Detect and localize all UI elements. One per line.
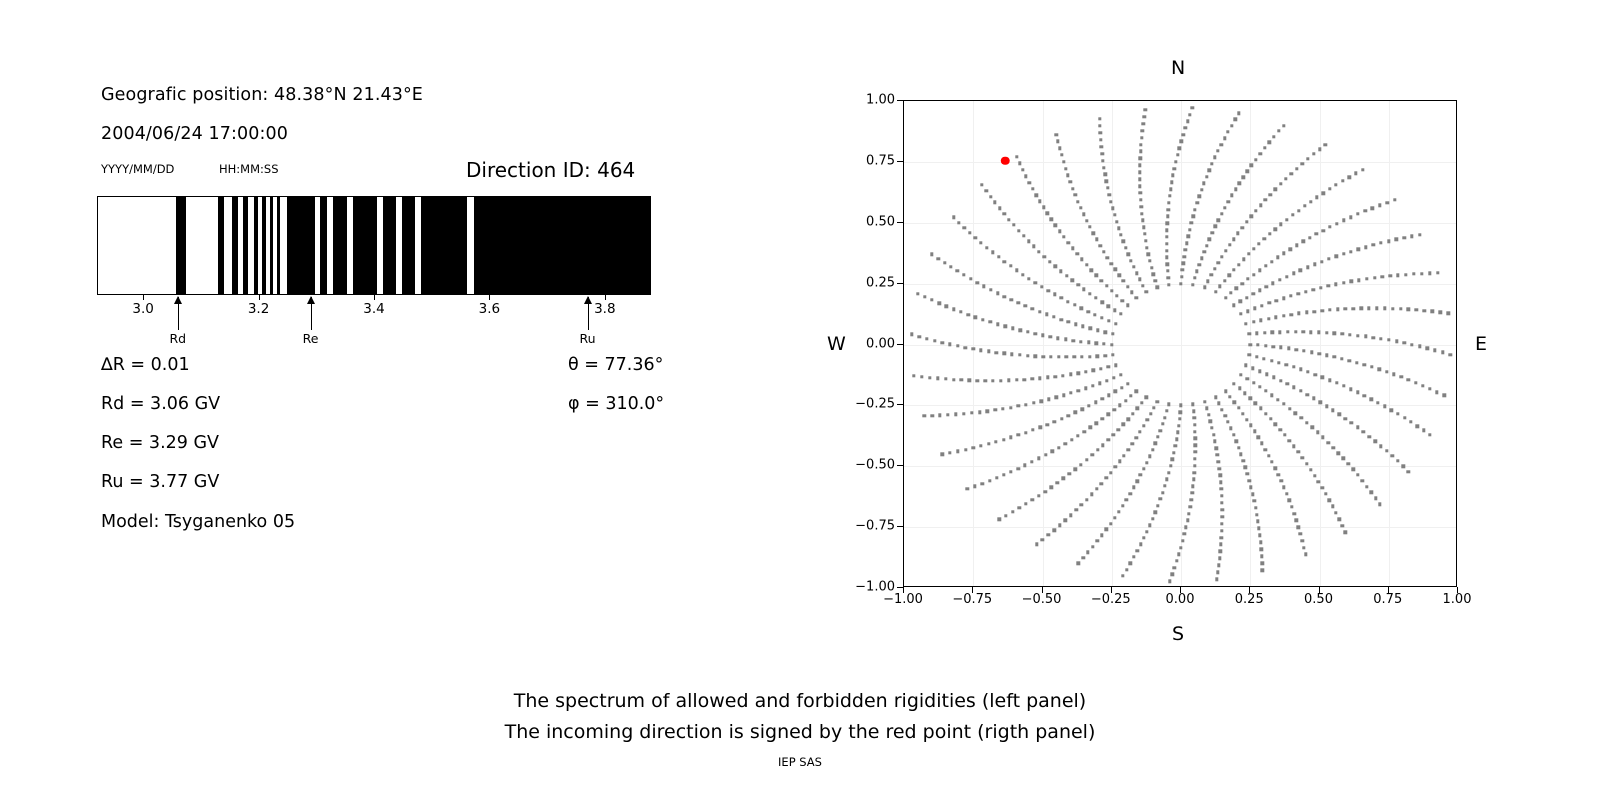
direction-point — [1106, 438, 1109, 441]
direction-point — [1126, 304, 1129, 307]
direction-point — [1059, 318, 1062, 321]
direction-point — [974, 236, 977, 239]
direction-point — [1028, 181, 1031, 184]
direction-point — [1218, 557, 1221, 560]
direction-point — [1233, 118, 1236, 121]
direction-point — [1422, 429, 1425, 432]
direction-point — [1428, 271, 1431, 274]
direction-point — [1294, 411, 1297, 414]
direction-point — [1264, 389, 1267, 392]
direction-point — [1009, 436, 1012, 439]
direction-point — [1092, 232, 1095, 235]
model-label: Model: Tsyganenko 05 — [101, 512, 295, 532]
direction-point — [1387, 338, 1390, 341]
direction-point — [1042, 206, 1045, 209]
direction-point — [1241, 226, 1244, 229]
direction-point — [1289, 294, 1292, 297]
direction-point — [1333, 355, 1336, 358]
direction-point — [1179, 546, 1182, 549]
direction-point — [1385, 370, 1388, 373]
direction-point — [933, 339, 936, 342]
direction-point — [1105, 284, 1108, 287]
forbidden-band — [353, 197, 377, 294]
direction-point — [1085, 458, 1088, 461]
direction-point — [1183, 255, 1186, 258]
direction-point — [1220, 501, 1223, 504]
direction-point — [1138, 157, 1141, 160]
direction-point — [1193, 457, 1196, 460]
direction-point — [1191, 403, 1194, 406]
direction-point — [1183, 532, 1186, 535]
direction-point — [986, 409, 989, 412]
direction-point — [1278, 330, 1281, 333]
direction-point — [1285, 275, 1288, 278]
direction-point — [1026, 354, 1029, 357]
direction-point — [918, 335, 921, 338]
direction-point — [1258, 369, 1261, 372]
direction-point — [1229, 291, 1232, 294]
direction-point — [1257, 527, 1260, 530]
direction-point — [1223, 414, 1226, 417]
direction-point — [1229, 427, 1232, 430]
direction-point — [1301, 456, 1304, 459]
direction-point — [1348, 359, 1351, 362]
spectrum-tick — [374, 295, 375, 300]
direction-point — [1333, 332, 1336, 335]
direction-point — [1344, 417, 1347, 420]
direction-point — [1348, 333, 1351, 336]
direction-point — [1306, 370, 1309, 373]
direction-point — [1056, 481, 1059, 484]
direction-point — [1415, 308, 1418, 311]
plot-xtick-label: 0.00 — [1166, 592, 1195, 607]
direction-point — [1114, 268, 1117, 271]
direction-point — [1010, 298, 1013, 301]
direction-point — [1364, 245, 1367, 248]
direction-point — [1264, 344, 1267, 347]
direction-point — [1260, 548, 1263, 551]
direction-point — [1236, 232, 1239, 235]
forbidden-band — [474, 197, 651, 294]
direction-point — [1113, 516, 1116, 519]
direction-point — [1066, 174, 1069, 177]
direction-point — [1271, 282, 1274, 285]
direction-point — [1216, 149, 1219, 152]
direction-point — [1012, 223, 1015, 226]
direction-point — [1385, 449, 1388, 452]
direction-point — [1334, 283, 1337, 286]
direction-point — [1112, 376, 1115, 379]
direction-point — [1054, 265, 1057, 268]
direction-point — [1060, 417, 1063, 420]
direction-point — [1267, 317, 1270, 320]
direction-point — [1214, 225, 1217, 228]
direction-point — [1167, 276, 1170, 279]
direction-point — [1251, 366, 1254, 369]
direction-point — [1217, 564, 1220, 567]
direction-point — [1388, 274, 1391, 277]
direction-point — [948, 451, 951, 454]
direction-point — [1053, 420, 1056, 423]
direction-point — [1128, 492, 1131, 495]
direction-point — [1138, 164, 1141, 167]
direction-point — [1426, 347, 1429, 350]
direction-point — [1126, 382, 1129, 385]
direction-point — [1140, 401, 1143, 404]
direction-point — [1383, 307, 1386, 310]
direction-point — [1192, 478, 1195, 481]
direction-point — [1407, 378, 1410, 381]
direction-point — [1027, 277, 1030, 280]
direction-point — [1431, 310, 1434, 313]
direction-point — [1118, 274, 1121, 277]
direction-point — [1449, 353, 1452, 356]
direction-point — [1038, 310, 1041, 313]
direction-point — [1274, 227, 1277, 230]
direction-point — [994, 440, 997, 443]
direction-point — [973, 485, 976, 488]
direction-point — [1264, 448, 1267, 451]
direction-point — [1167, 208, 1170, 211]
direction-point — [1401, 465, 1404, 468]
direction-point — [1250, 164, 1253, 167]
direction-point — [989, 320, 992, 323]
direction-point — [1296, 450, 1299, 453]
direction-point — [1100, 482, 1103, 485]
direction-point — [1043, 255, 1046, 258]
direction-point — [1024, 304, 1027, 307]
direction-point — [1379, 444, 1382, 447]
direction-point — [1094, 296, 1097, 299]
direction-point — [1024, 175, 1027, 178]
direction-point — [1242, 258, 1245, 261]
direction-point — [1035, 543, 1038, 546]
direction-point — [1191, 106, 1194, 109]
plot-ytick — [897, 465, 903, 466]
direction-point — [1302, 546, 1305, 549]
direction-point — [1252, 292, 1255, 295]
direction-point — [1191, 283, 1194, 286]
direction-point — [1102, 250, 1105, 253]
direction-point — [1285, 363, 1288, 366]
direction-point — [922, 414, 925, 417]
direction-point — [1087, 404, 1090, 407]
direction-point — [1292, 512, 1295, 515]
plot-xtick-label: −0.50 — [1022, 592, 1062, 607]
direction-point — [946, 413, 949, 416]
direction-point — [1058, 524, 1061, 527]
direction-point — [1176, 431, 1179, 434]
direction-point — [1327, 441, 1330, 444]
plot-xtick-label: −0.25 — [1091, 592, 1131, 607]
direction-point — [1034, 193, 1037, 196]
direction-point — [1356, 426, 1359, 429]
direction-point — [1299, 532, 1302, 535]
direction-point — [1335, 381, 1338, 384]
direction-point — [1304, 290, 1307, 293]
direction-point — [1292, 386, 1295, 389]
plot-xtick-label: 0.75 — [1373, 592, 1402, 607]
direction-point — [972, 446, 975, 449]
direction-point — [1141, 219, 1144, 222]
direction-point — [1072, 355, 1075, 358]
direction-point — [979, 241, 982, 244]
direction-point — [930, 252, 933, 255]
direction-point — [1245, 418, 1248, 421]
plot-ytick — [897, 100, 903, 101]
direction-point — [1359, 307, 1362, 310]
direction-point — [1271, 331, 1274, 334]
direction-point — [1396, 459, 1399, 462]
direction-point — [1203, 286, 1206, 289]
direction-point — [959, 310, 962, 313]
marker-label-re: Re — [303, 331, 319, 346]
plot-ytick-label: 0.75 — [866, 153, 895, 168]
direction-point — [1121, 299, 1124, 302]
direction-point — [1226, 420, 1229, 423]
direction-point — [1247, 252, 1250, 255]
direction-point — [1002, 438, 1005, 441]
direction-point — [1215, 447, 1218, 450]
plot-ytick — [897, 222, 903, 223]
direction-point — [978, 410, 981, 413]
direction-point — [1342, 281, 1345, 284]
direction-point — [1206, 279, 1209, 282]
direction-point — [1374, 497, 1377, 500]
direction-point — [1187, 512, 1190, 515]
direction-point — [1391, 307, 1394, 310]
direction-point — [1080, 503, 1083, 506]
direction-point — [1220, 515, 1223, 518]
direction-point — [1102, 342, 1105, 345]
direction-point — [1260, 304, 1263, 307]
direction-point — [1319, 401, 1322, 404]
direction-point — [1118, 404, 1121, 407]
direction-point — [1154, 279, 1157, 282]
direction-point — [1228, 395, 1231, 398]
direction-point — [1435, 390, 1438, 393]
direction-point — [1282, 297, 1285, 300]
direction-point — [1110, 289, 1113, 292]
direction-point — [1083, 430, 1086, 433]
direction-point — [1202, 250, 1205, 253]
direction-point — [1258, 534, 1261, 537]
direction-point — [1071, 187, 1074, 190]
direction-point — [1080, 407, 1083, 410]
direction-point — [1308, 236, 1311, 239]
direction-point — [1105, 379, 1108, 382]
compass-west-label: W — [827, 333, 846, 355]
direction-point — [1113, 213, 1116, 216]
direction-point — [1249, 424, 1252, 427]
direction-point — [1312, 397, 1315, 400]
param-re: Re = 3.29 GV — [101, 433, 219, 453]
direction-point — [1181, 539, 1184, 542]
direction-point — [1277, 361, 1280, 364]
direction-point — [1159, 429, 1162, 432]
direction-point — [1138, 171, 1141, 174]
direction-point — [1269, 417, 1272, 420]
direction-point — [1195, 270, 1198, 273]
direction-point — [1152, 406, 1155, 409]
direction-point — [1342, 457, 1345, 460]
direction-point — [1258, 152, 1261, 155]
direction-point — [1049, 355, 1052, 358]
direction-point — [1200, 188, 1203, 191]
direction-point — [1091, 545, 1094, 548]
direction-point — [983, 379, 986, 382]
direction-point — [1121, 504, 1124, 507]
direction-point — [1282, 252, 1285, 255]
direction-point — [1277, 473, 1280, 476]
direction-point — [1176, 153, 1179, 156]
direction-point — [1259, 541, 1262, 544]
direction-point — [1232, 304, 1235, 307]
direction-point — [1096, 329, 1099, 332]
direction-point — [1237, 406, 1240, 409]
direction-point — [1337, 451, 1340, 454]
direction-point — [1067, 320, 1070, 323]
direction-point — [1418, 233, 1421, 236]
direction-point — [1011, 510, 1014, 513]
direction-point — [1188, 113, 1191, 116]
direction-point — [1286, 330, 1289, 333]
param-delta-r: ∆R = 0.01 — [101, 355, 190, 375]
direction-point — [1292, 365, 1295, 368]
direction-point — [1361, 168, 1364, 171]
direction-point — [1365, 277, 1368, 280]
direction-point — [1154, 442, 1157, 445]
direction-point — [1252, 381, 1255, 384]
direction-point — [1136, 407, 1139, 410]
rigidity-spectrum-chart — [97, 196, 651, 295]
direction-point — [1169, 464, 1172, 467]
direction-point — [1090, 493, 1093, 496]
direction-point — [1122, 240, 1125, 243]
direction-point — [1261, 569, 1264, 572]
direction-point — [1184, 248, 1187, 251]
direction-point — [1145, 396, 1148, 399]
direction-point — [1135, 271, 1138, 274]
direction-point — [1066, 241, 1069, 244]
footer-credit: IEP SAS — [0, 755, 1600, 769]
direction-point — [1054, 396, 1057, 399]
direction-point — [1058, 230, 1061, 233]
direction-point — [1349, 215, 1352, 218]
direction-point — [1318, 148, 1321, 151]
direction-point — [1163, 416, 1166, 419]
direction-point — [1407, 308, 1410, 311]
direction-point — [1086, 551, 1089, 554]
direction-point — [1295, 519, 1298, 522]
direction-point — [1119, 373, 1122, 376]
direction-point — [1246, 309, 1249, 312]
direction-point — [1279, 379, 1282, 382]
direction-point — [1306, 266, 1309, 269]
direction-point — [1390, 454, 1393, 457]
direction-point — [1054, 375, 1057, 378]
plot-ytick — [897, 404, 903, 405]
direction-point — [1130, 442, 1133, 445]
direction-point — [1143, 115, 1146, 118]
direction-point — [1328, 498, 1331, 501]
direction-point — [1089, 327, 1092, 330]
direction-point — [1043, 490, 1046, 493]
direction-point — [1334, 511, 1337, 514]
direction-point — [1111, 332, 1114, 335]
direction-point — [1109, 522, 1112, 525]
direction-point — [1085, 263, 1088, 266]
direction-point — [1023, 378, 1026, 381]
direction-point — [1235, 440, 1238, 443]
direction-point — [1109, 471, 1112, 474]
direction-point — [1328, 225, 1331, 228]
direction-point — [1049, 335, 1052, 338]
direction-point — [1203, 400, 1206, 403]
direction-point — [1254, 158, 1257, 161]
direction-point — [1073, 303, 1076, 306]
direction-point — [1295, 167, 1298, 170]
direction-point — [1010, 353, 1013, 356]
direction-point — [1200, 257, 1203, 260]
direction-point — [1215, 578, 1218, 581]
direction-point — [1337, 413, 1340, 416]
direction-point — [1016, 467, 1019, 470]
direction-point — [1235, 287, 1238, 290]
direction-point — [1433, 349, 1436, 352]
direction-point — [1285, 492, 1288, 495]
direction-point — [1409, 420, 1412, 423]
direction-point — [1064, 442, 1067, 445]
direction-point — [1279, 182, 1282, 185]
direction-point — [1074, 468, 1077, 471]
direction-point — [952, 307, 955, 310]
direction-point — [1354, 172, 1357, 175]
direction-point — [1139, 150, 1142, 153]
direction-point — [1167, 201, 1170, 204]
direction-point — [1156, 504, 1159, 507]
direction-point — [1313, 263, 1316, 266]
direction-point — [1341, 179, 1344, 182]
direction-point — [1109, 200, 1112, 203]
direction-point — [1114, 390, 1117, 393]
gridline-vertical — [1320, 101, 1321, 586]
spectrum-tick — [605, 295, 606, 300]
direction-point — [1423, 309, 1426, 312]
plot-ytick-label: 0.00 — [866, 336, 895, 351]
direction-point — [1218, 474, 1221, 477]
direction-point — [1059, 269, 1062, 272]
plot-ytick — [897, 344, 903, 345]
direction-point — [1132, 486, 1135, 489]
direction-point — [1064, 338, 1067, 341]
direction-point — [1299, 416, 1302, 419]
direction-point — [1347, 462, 1350, 465]
direction-point — [1300, 162, 1303, 165]
direction-point — [1259, 204, 1262, 207]
direction-point — [1363, 209, 1366, 212]
direction-point — [1258, 289, 1261, 292]
direction-point — [991, 251, 994, 254]
direction-point — [1141, 284, 1144, 287]
direction-point — [1403, 341, 1406, 344]
direction-point — [1193, 471, 1196, 474]
direction-point — [1167, 403, 1170, 406]
direction-point — [1283, 433, 1286, 436]
direction-point — [1269, 193, 1272, 196]
direction-point — [1178, 147, 1181, 150]
direction-point — [1324, 492, 1327, 495]
